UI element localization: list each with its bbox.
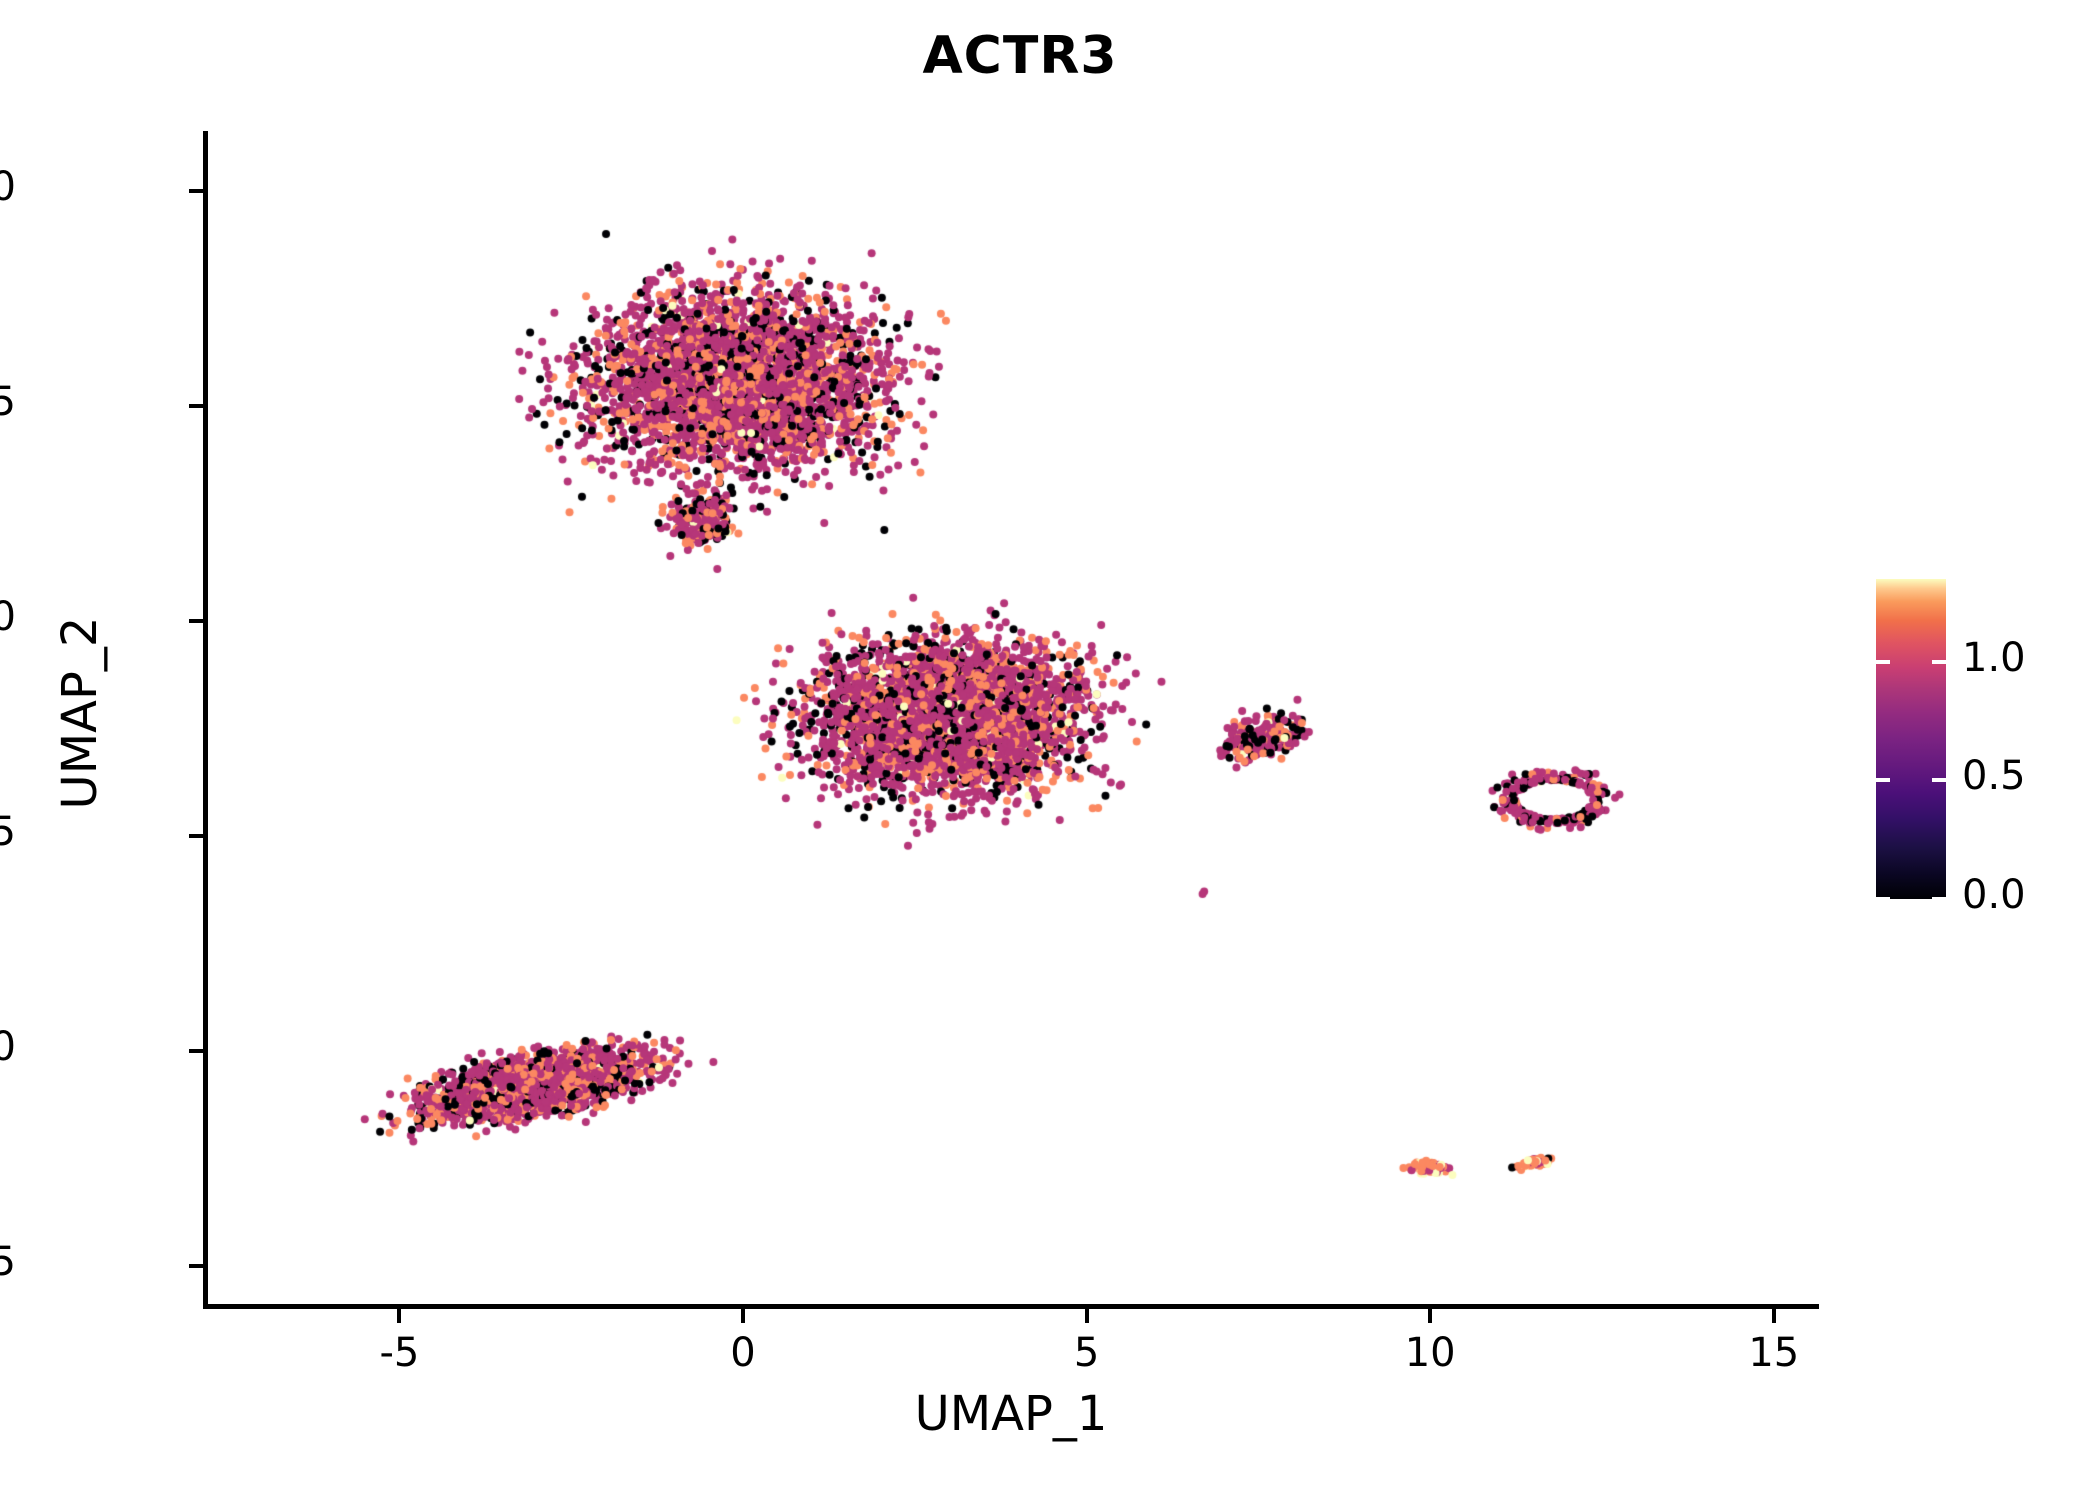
colorbar-tick-label: 0.5 [1962,753,2026,799]
scatter-canvas [207,135,1815,1305]
y-tick-mark [189,1264,203,1268]
y-tick-mark [189,189,203,193]
axis-spine-bottom [203,1304,1819,1309]
x-tick-mark [741,1309,745,1323]
y-tick-label: 0 [0,1024,16,1070]
y-tick-mark [189,619,203,623]
axis-spine-left [203,131,208,1309]
colorbar-tick-mark [1932,778,1946,782]
x-tick-label: 0 [643,1330,843,1376]
y-tick-label: 10 [0,594,16,640]
x-axis-label: UMAP_1 [0,1386,2022,1442]
y-axis-label: UMAP_2 [52,113,108,1313]
colorbar-tick-mark [1932,660,1946,664]
x-tick-label: -5 [299,1330,499,1376]
x-tick-mark [1772,1309,1776,1323]
colorbar-tick-mark [1876,778,1890,782]
y-tick-label: -5 [0,1239,16,1285]
y-tick-mark [189,1049,203,1053]
y-tick-mark [189,834,203,838]
y-tick-label: 20 [0,164,16,210]
y-tick-mark [189,404,203,408]
colorbar-tick-mark [1876,660,1890,664]
x-tick-label: 15 [1674,1330,1874,1376]
x-tick-label: 5 [987,1330,1187,1376]
x-tick-mark [1428,1309,1432,1323]
colorbar-tick-mark [1876,897,1890,901]
colorbar-tick-label: 0.0 [1962,872,2026,918]
x-tick-label: 10 [1330,1330,1530,1376]
page-title: ACTR3 [0,26,2040,86]
y-tick-label: 5 [0,809,16,855]
x-tick-mark [397,1309,401,1323]
colorbar-tick-label: 1.0 [1962,635,2026,681]
x-tick-mark [1085,1309,1089,1323]
umap-feature-plot: ACTR3 -505101520 -5051015 UMAP_1 UMAP_2 … [0,0,2100,1500]
colorbar: 0.00.51.0 [1876,579,1946,899]
plot-area [207,135,1815,1305]
colorbar-tick-mark [1932,897,1946,901]
y-tick-label: 15 [0,379,16,425]
colorbar-gradient [1876,579,1946,899]
